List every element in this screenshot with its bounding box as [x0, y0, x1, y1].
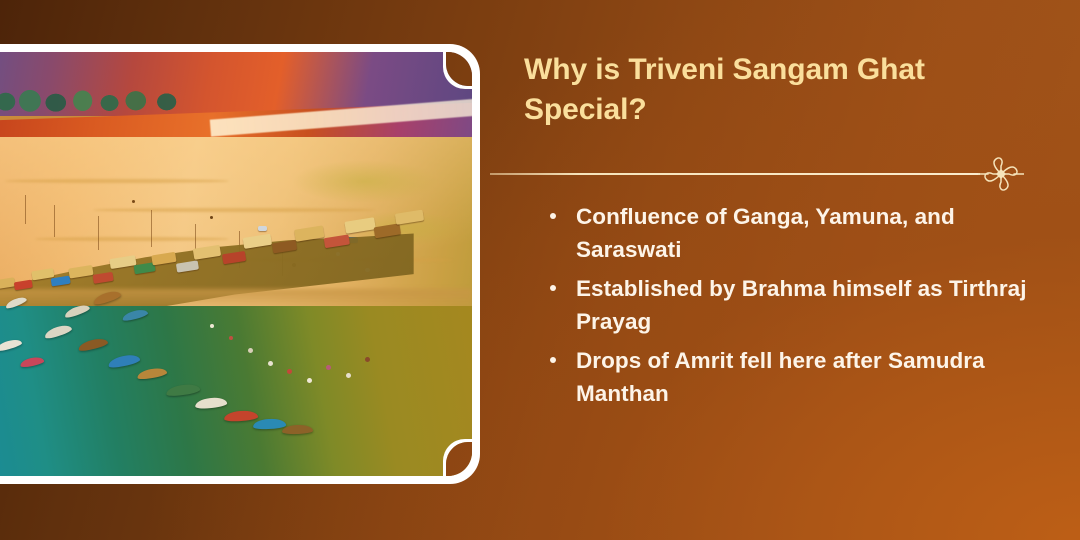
photo-frame [0, 44, 480, 484]
four-loop-diamond-ornament-icon [978, 156, 1024, 192]
page-title: Why is Triveni Sangam Ghat Special? [524, 50, 994, 129]
list-item: Established by Brahma himself as Tirthra… [544, 272, 1044, 338]
ghat-photo [0, 52, 472, 476]
divider-line [490, 173, 980, 175]
list-item: Drops of Amrit fell here after Samudra M… [544, 344, 1044, 410]
divider [490, 164, 1024, 184]
fact-list: Confluence of Ganga, Yamuna, and Saraswa… [544, 200, 1044, 416]
slide-root: Why is Triveni Sangam Ghat Special? [0, 0, 1080, 540]
list-item: Confluence of Ganga, Yamuna, and Saraswa… [544, 200, 1044, 266]
aerial-ghat-scene [0, 52, 472, 476]
content-column: Why is Triveni Sangam Ghat Special? [524, 0, 1058, 540]
